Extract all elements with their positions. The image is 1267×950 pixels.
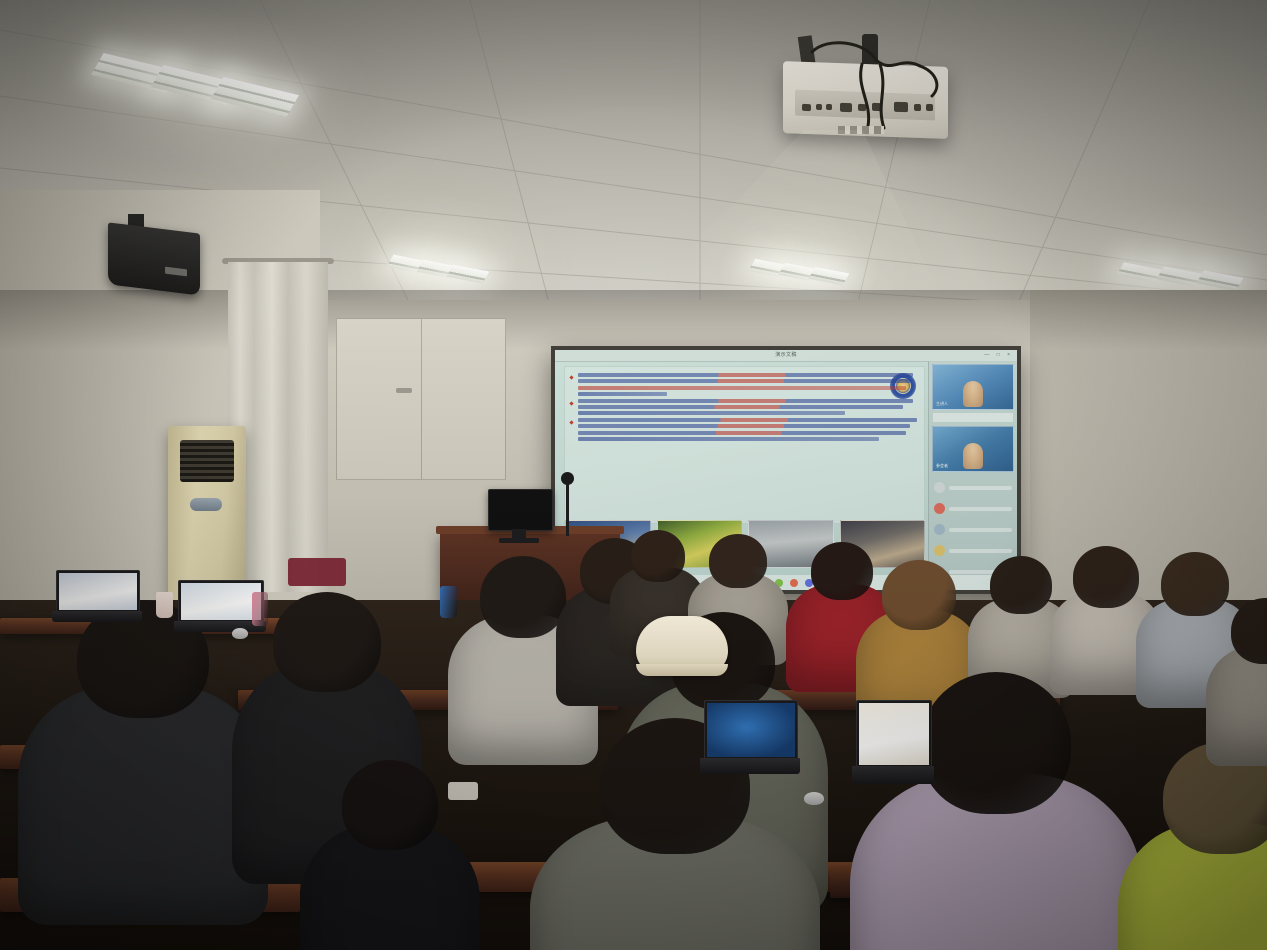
slide-bullet [567,373,920,396]
wall-ceiling-shadow [0,290,1267,350]
participant-name-line [949,507,1012,511]
water-bottle-pink [252,592,268,626]
drink-cup [156,592,173,618]
person-head [273,592,381,692]
projector-label-strip [838,126,884,134]
phone-on-desk [448,782,478,800]
student-front-left-masked [18,600,268,950]
microphone-head-icon [561,472,574,485]
participant-avatar-icon [934,482,945,493]
person-head [480,556,566,638]
wall-speaker [108,222,200,295]
meeting-participant-row[interactable] [934,503,1012,514]
laptop-screen [704,700,798,760]
laptop-desk-center[interactable] [704,700,796,774]
participant-name-line [949,528,1012,532]
participant-name-line [949,486,1012,490]
meeting-participant-row[interactable] [934,545,1012,556]
mouse-left[interactable] [232,628,248,639]
slide-text-line [578,373,913,377]
laptop-screen-content [707,703,795,757]
participant-name: 主讲人 [936,401,948,407]
person-head [921,672,1071,814]
slide-text-line [578,437,879,441]
air-conditioner-grille-icon [180,440,234,482]
meeting-participant-row[interactable] [934,482,1012,493]
laptop-screen-content [859,703,929,765]
person-head [882,560,956,630]
wall-cabinet-panel [336,318,506,480]
person-torso [18,685,268,925]
participant-avatar-icon [934,503,945,514]
slide-content-area [564,366,925,524]
projector-cables [780,30,970,140]
participant-avatar-icon [934,545,945,556]
laptop-screen [56,570,140,613]
slide-bullet [567,399,920,416]
slide-text-line [578,379,910,383]
classroom-photo: 演示文稿 — □ × 主讲人 参会 [0,0,1267,950]
person-head [709,534,767,588]
person-head [1073,546,1139,608]
person-head [990,556,1052,614]
slide-text-line [578,431,906,435]
participant-tile-1[interactable]: 主讲人 [932,364,1014,410]
laptop-keyboard[interactable] [700,758,800,774]
cabinet-handle [396,388,412,393]
participant-avatar-icon [934,524,945,535]
mouse-center[interactable] [804,792,824,805]
red-cloth [288,558,346,586]
microphone-stand [566,478,569,536]
laptop-screen-content [181,583,261,620]
desktop-monitor [488,489,553,531]
participant-avatar [963,381,983,407]
slide-text-line [578,392,667,396]
meeting-participant-row[interactable] [934,524,1012,535]
window-controls[interactable]: — □ × [984,352,1013,358]
person-head [342,760,438,850]
video-meeting-sidebar[interactable]: 主讲人 参会者 [928,361,1017,575]
meeting-caption-bar [933,413,1013,422]
slide-text-line [578,418,917,422]
slide-text-line [578,411,845,415]
slide-text-line [578,386,906,390]
cap-brim [636,664,728,676]
laptop-right-notes[interactable] [856,700,930,784]
slide-text-line [578,399,913,403]
person-head [631,530,685,582]
laptop-open-left[interactable] [56,570,138,622]
air-conditioner-badge [190,498,222,511]
monitor-base [499,538,539,543]
slide-text-line [578,424,910,428]
participant-tile-2[interactable]: 参会者 [932,426,1014,472]
laptop-keyboard[interactable] [52,611,142,622]
student-far-right-edge [1206,598,1267,784]
slide-text-line [578,405,903,409]
laptop-open-left-2[interactable] [178,580,262,632]
participant-name: 参会者 [936,463,948,469]
laptop-keyboard[interactable] [852,766,934,784]
slide-bullet [567,418,920,441]
laptop-screen-content [59,573,137,610]
participant-name-line [949,549,1012,553]
laptop-screen [856,700,932,768]
water-bottle-blue [440,586,457,618]
participant-avatar [963,443,983,469]
slide-window-title: 演示文稿 [775,351,797,358]
